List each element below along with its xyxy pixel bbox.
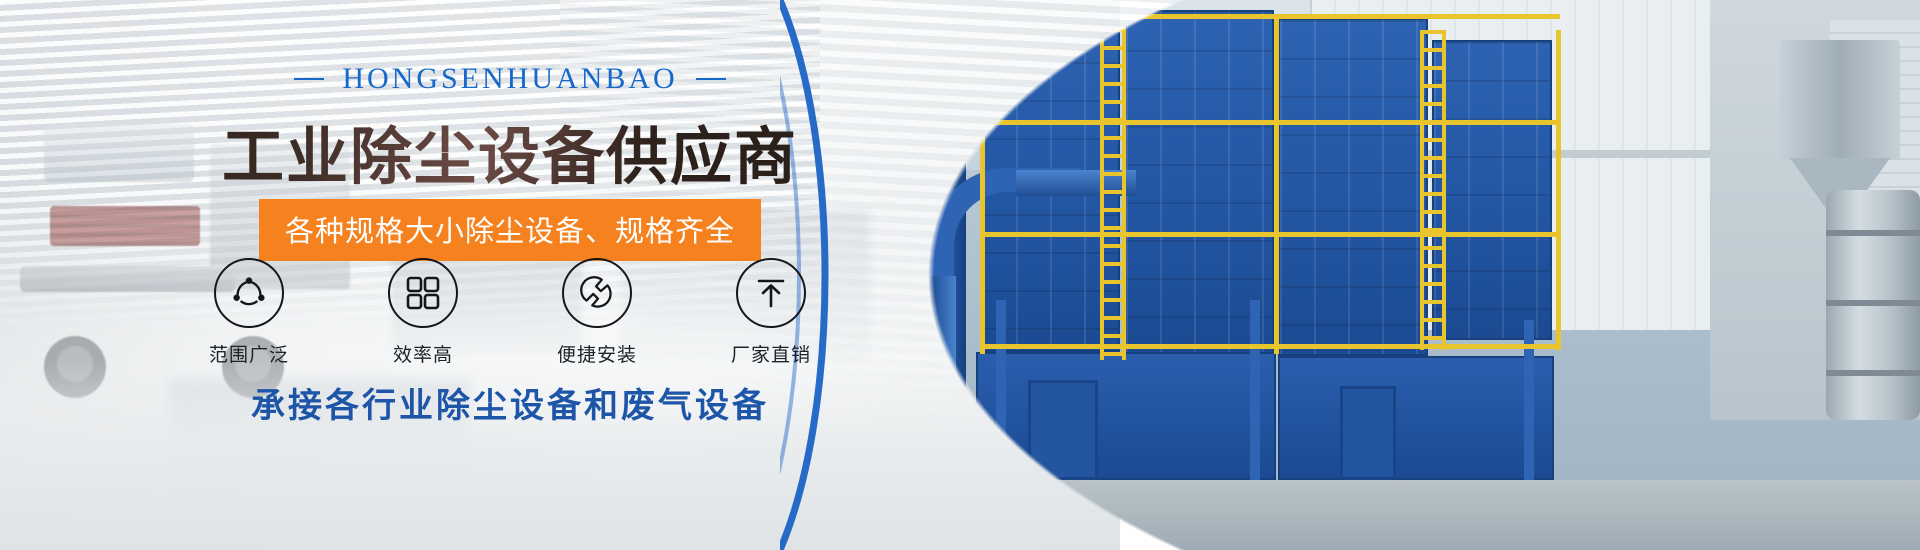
brand-eyebrow: HONGSENHUANBAO [0,62,1020,96]
equipment-base [1278,356,1554,480]
tagline: 承接各行业除尘设备和废气设备 [0,378,1020,427]
feature-item-factory-direct[interactable]: 厂家直销 [716,258,826,367]
baghouse-module [1432,40,1552,340]
baghouse-module [1278,18,1428,356]
feature-item-range[interactable]: 范围广泛 [194,258,304,367]
eyebrow-dash-left [294,78,324,80]
hero-content: HONGSENHUANBAO 工业除尘设备供应商 各种规格大小除尘设备、规格齐全 [0,0,1020,550]
feature-item-installation[interactable]: 便捷安装 [542,258,652,367]
feature-item-efficiency[interactable]: 效率高 [368,258,478,367]
feature-label: 效率高 [368,340,478,367]
arrow-up-bar-icon [736,258,806,328]
safety-ladder [1420,30,1446,350]
equipment-base [976,352,1276,480]
hero-banner: HONGSENHUANBAO 工业除尘设备供应商 各种规格大小除尘设备、规格齐全 [0,0,1920,550]
eyebrow-dash-right [696,78,726,80]
access-door [1340,386,1396,480]
network-nodes-icon [214,258,284,328]
subtitle-banner: 各种规格大小除尘设备、规格齐全 [259,199,761,261]
safety-ladder [1100,10,1126,360]
eyebrow-text: HONGSENHUANBAO [342,62,677,96]
access-door [1028,380,1098,480]
grid-squares-icon [388,258,458,328]
silo [1780,40,1900,160]
page-title: 工业除尘设备供应商 [0,106,1020,196]
feature-label: 范围广泛 [194,340,304,367]
feature-label: 厂家直销 [716,340,826,367]
wrench-circular-icon [562,258,632,328]
feature-list: 范围广泛 效率高 [0,258,1020,367]
feature-label: 便捷安装 [542,340,652,367]
